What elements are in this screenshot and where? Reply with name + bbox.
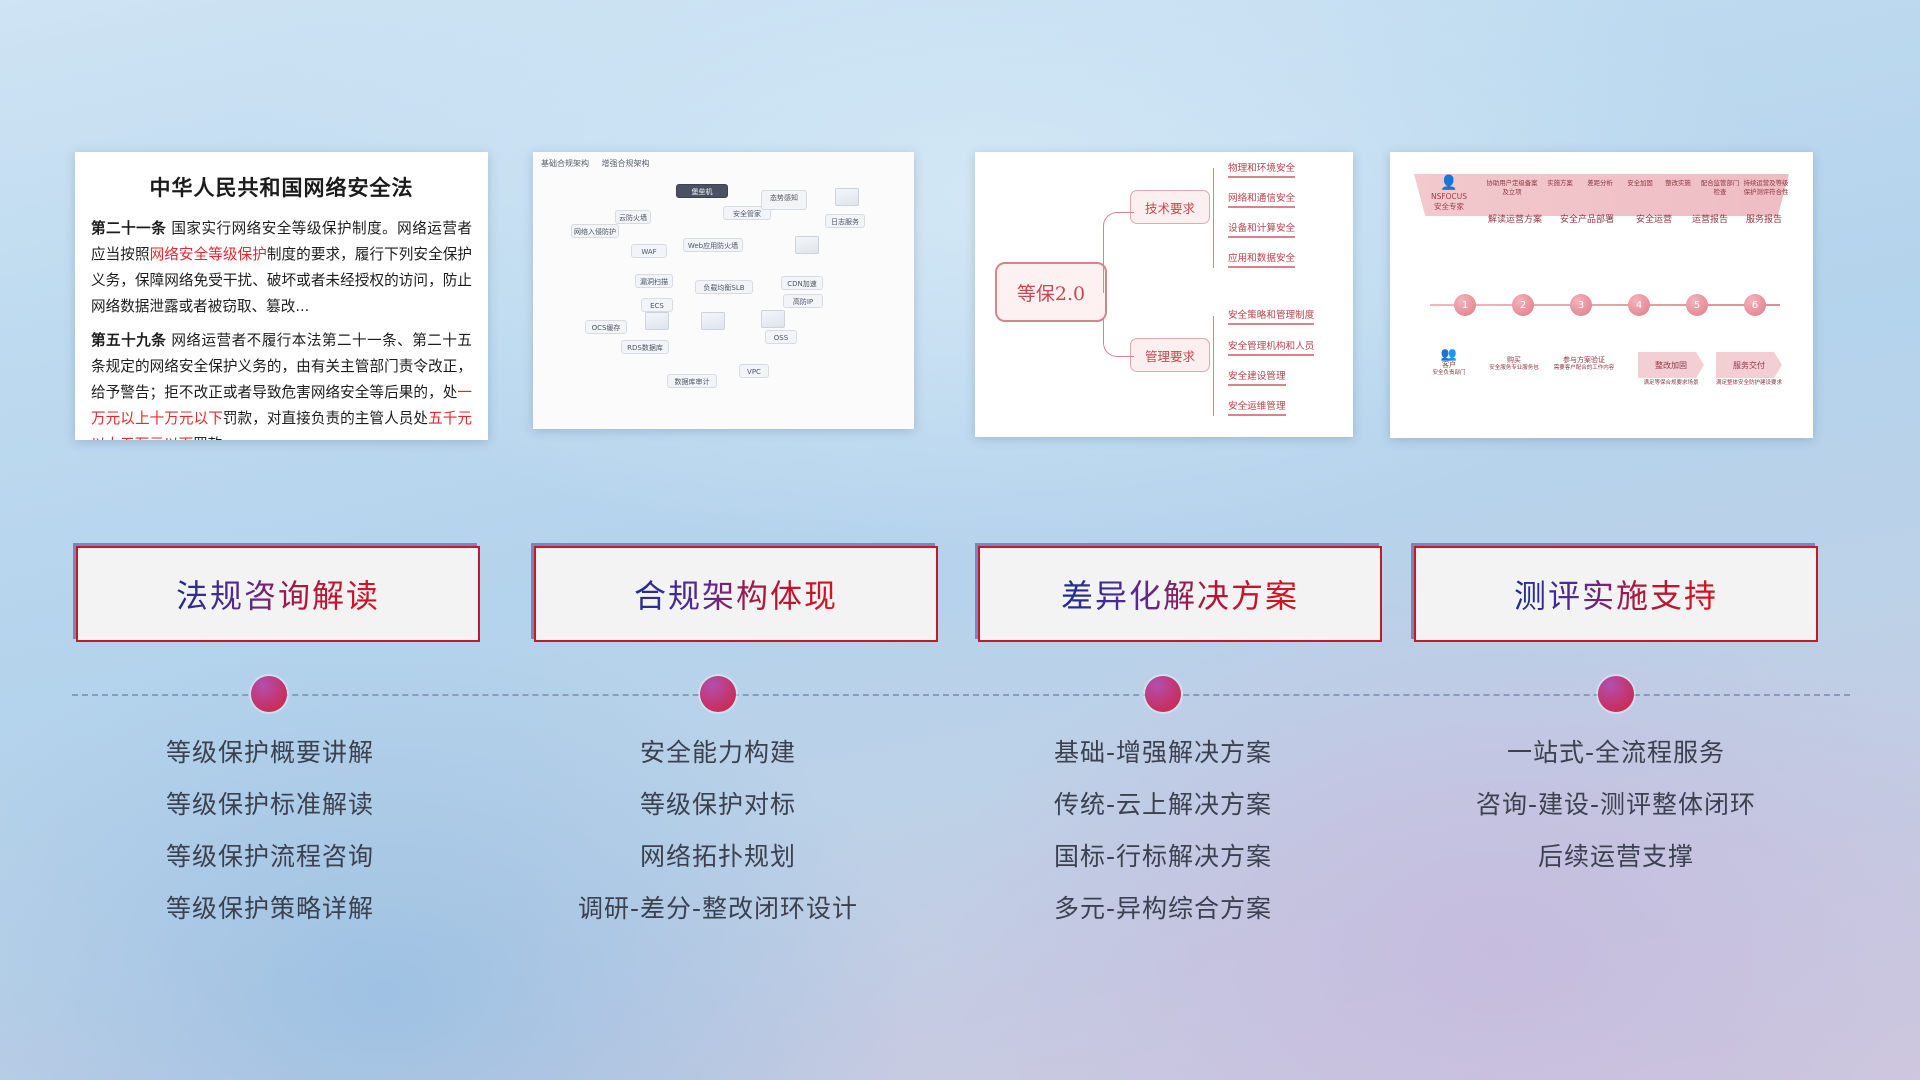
arch-server-icon-3 (645, 312, 669, 330)
nsfocus-banner-item-2: 差距分析 (1582, 179, 1618, 188)
nsfocus-stage-3: 3 (1570, 294, 1592, 316)
list-item: 咨询-建设-测评整体闭环 (1406, 792, 1826, 817)
law-article-59: 第五十九条 网络运营者不履行本法第二十一条、第二十五条规定的网络安全保护义务的，… (91, 328, 472, 440)
slide-canvas: 中华人民共和国网络安全法 第二十一条 国家实行网络安全等级保护制度。网络运营者应… (0, 0, 1920, 1080)
nsfocus-banner-item-1: 实施方案 (1542, 179, 1578, 188)
timeline-dashed-line (72, 694, 1850, 696)
nsfocus-banner-item-0: 协助用户定级备案及立项 (1486, 179, 1538, 196)
section-heading-label-2: 合规架构体现 (634, 571, 838, 617)
section-items-4: 一站式-全流程服务 咨询-建设-测评整体闭环 后续运营支撑 (1406, 740, 1826, 896)
arch-node-4: 网络入侵防护 (571, 224, 619, 238)
list-item: 国标-行标解决方案 (953, 844, 1373, 869)
list-item: 等级保护策略详解 (60, 896, 480, 921)
arch-node-6: Web应用防火墙 (683, 238, 743, 252)
nsfocus-logo-line2: 安全专家 (1420, 202, 1478, 212)
arch-node-16: 数据库审计 (667, 374, 717, 388)
timeline-node-4[interactable] (1598, 676, 1634, 712)
arch-tabs: 基础合规架构 增强合规架构 (541, 158, 660, 169)
list-item: 多元-异构综合方案 (953, 896, 1373, 921)
arch-tab-enhanced: 增强合规架构 (602, 159, 650, 168)
mindmap-leaf-tech-0: 物理和环境安全 (1228, 160, 1295, 178)
nsfocus-bottom-item-0-label: 购买 (1486, 356, 1542, 365)
law-card-title: 中华人民共和国网络安全法 (91, 172, 472, 202)
nsfocus-stage-4: 4 (1628, 294, 1650, 316)
card-cybersecurity-law: 中华人民共和国网络安全法 第二十一条 国家实行网络安全等级保护制度。网络运营者应… (75, 152, 488, 440)
mindmap-leaf-tech-3: 应用和数据安全 (1228, 250, 1295, 268)
nsfocus-arrow-1: 服务交付 (1716, 352, 1782, 378)
nsfocus-bottom-item-0: 购买 安全服务专业服务包 (1486, 356, 1542, 372)
person-icon: 👤 (1420, 176, 1478, 190)
list-item: 等级保护对标 (508, 792, 928, 817)
list-item: 传统-云上解决方案 (953, 792, 1373, 817)
customer-icon: 👥 (1418, 348, 1480, 361)
nsfocus-arrow-0: 整改加固 (1638, 352, 1704, 378)
law-article-59-label: 第五十九条 (91, 332, 166, 349)
mindmap-spine-management (1213, 316, 1226, 416)
mindmap-leaf-mgmt-3: 安全运维管理 (1228, 398, 1286, 416)
nsfocus-customer-block: 👥 客户 安全负责部门 (1418, 348, 1480, 377)
mindmap-connector-management (1103, 318, 1134, 357)
nsfocus-logo-line1: NSFOCUS (1420, 192, 1478, 202)
nsfocus-bottom-item-1-sub: 需要客户配合的工作内容 (1550, 365, 1618, 372)
arch-node-2: 态势感知 (761, 190, 807, 210)
mindmap-leaf-mgmt-1: 安全管理机构和人员 (1228, 338, 1314, 356)
arch-node-13: RDS数据库 (621, 340, 669, 354)
arch-node-9: 负载均衡SLB (695, 280, 753, 294)
nsfocus-arrow-0-sub: 满足等保合规要求场景 (1634, 380, 1708, 387)
arch-server-icon-4 (701, 312, 725, 330)
nsfocus-row-label-1: 安全产品部署 (1558, 212, 1616, 225)
section-heading-label-4: 测评实施支持 (1514, 571, 1718, 617)
mindmap-connector-technical (1103, 212, 1134, 293)
arch-node-14: OCS缓存 (585, 320, 627, 334)
nsfocus-customer-title: 客户 (1418, 361, 1480, 370)
section-items-3: 基础-增强解决方案 传统-云上解决方案 国标-行标解决方案 多元-异构综合方案 (953, 740, 1373, 948)
nsfocus-banner-item-6: 持续运营及等级保护测评符合性 (1742, 179, 1790, 196)
arch-node-11: 高防IP (783, 294, 823, 308)
nsfocus-customer-sub: 安全负责部门 (1418, 370, 1480, 377)
law-article-59-text-b: 罚款，对直接负责的主管人员处 (223, 410, 428, 427)
list-item: 调研-差分-整改闭环设计 (508, 896, 928, 921)
arch-node-10: CDN加速 (781, 276, 823, 290)
nsfocus-bottom-item-1-label: 参与方案验证 (1550, 356, 1618, 365)
section-heading-box-3[interactable]: 差异化解决方案 (978, 546, 1382, 642)
timeline-node-3[interactable] (1145, 676, 1181, 712)
mindmap-leaf-mgmt-2: 安全建设管理 (1228, 368, 1286, 386)
nsfocus-timeline-rail (1430, 304, 1780, 306)
mindmap-leaf-tech-1: 网络和通信安全 (1228, 190, 1295, 208)
list-item: 安全能力构建 (508, 740, 928, 765)
nsfocus-row-label-2: 安全运营 (1630, 212, 1678, 225)
arch-node-12: OSS (765, 330, 797, 344)
section-heading-box-1[interactable]: 法规咨询解读 (76, 546, 480, 642)
nsfocus-banner-item-5: 配合监管部门检查 (1698, 179, 1742, 196)
nsfocus-arrow-1-sub: 满足整体安全防护建设要求 (1712, 380, 1786, 387)
arch-server-icon-1 (795, 236, 819, 254)
nsfocus-stage-1: 1 (1454, 294, 1476, 316)
nsfocus-banner-item-3: 安全加固 (1622, 179, 1658, 188)
arch-node-3: 云防火墙 (615, 210, 651, 224)
list-item: 等级保护标准解读 (60, 792, 480, 817)
arch-server-icon-2 (835, 188, 859, 206)
section-items-2: 安全能力构建 等级保护对标 网络拓扑规划 调研-差分-整改闭环设计 (508, 740, 928, 948)
law-article-21-highlight: 网络安全等级保护 (150, 246, 267, 263)
law-article-21: 第二十一条 国家实行网络安全等级保护制度。网络运营者应当按照网络安全等级保护制度… (91, 216, 472, 320)
section-heading-box-2[interactable]: 合规架构体现 (534, 546, 938, 642)
law-card-body: 中华人民共和国网络安全法 第二十一条 国家实行网络安全等级保护制度。网络运营者应… (75, 152, 488, 440)
nsfocus-stage-5: 5 (1686, 294, 1708, 316)
nsfocus-stage-6: 6 (1744, 294, 1766, 316)
list-item: 等级保护概要讲解 (60, 740, 480, 765)
section-heading-label-1: 法规咨询解读 (176, 571, 380, 617)
list-item: 后续运营支撑 (1406, 844, 1826, 869)
timeline-node-1[interactable] (251, 676, 287, 712)
arch-server-icon-5 (761, 310, 785, 328)
nsfocus-bottom-item-1: 参与方案验证 需要客户配合的工作内容 (1550, 356, 1618, 372)
timeline-node-2[interactable] (700, 676, 736, 712)
mindmap-root-node: 等保2.0 (995, 262, 1107, 322)
list-item: 网络拓扑规划 (508, 844, 928, 869)
section-heading-box-4[interactable]: 测评实施支持 (1414, 546, 1818, 642)
card-compliance-architecture: 基础合规架构 增强合规架构 堡垒机 安全管家 态势感知 云防火墙 网络入侵防护 … (533, 152, 914, 429)
nsfocus-banner-item-4: 整改实施 (1660, 179, 1696, 188)
mindmap-spine-technical (1213, 168, 1226, 268)
law-article-59-text-c: 罚款。 (193, 436, 237, 440)
nsfocus-row-label-4: 服务报告 (1740, 212, 1788, 225)
section-items-1: 等级保护概要讲解 等级保护标准解读 等级保护流程咨询 等级保护策略详解 (60, 740, 480, 948)
section-heading-label-3: 差异化解决方案 (1061, 571, 1299, 617)
list-item: 一站式-全流程服务 (1406, 740, 1826, 765)
nsfocus-row-label-3: 运营报告 (1686, 212, 1734, 225)
arch-node-7: 漏洞扫描 (635, 274, 673, 288)
mindmap-leaf-tech-2: 设备和计算安全 (1228, 220, 1295, 238)
mindmap-branch-management: 管理要求 (1130, 338, 1210, 372)
nsfocus-row-label-0: 解读运营方案 (1486, 212, 1544, 225)
arch-node-8: ECS (641, 298, 673, 312)
arch-node-5: WAF (631, 244, 667, 258)
nsfocus-logo: 👤 NSFOCUS 安全专家 (1420, 176, 1478, 216)
card-dengbao-mindmap: 等保2.0 技术要求 管理要求 物理和环境安全 网络和通信安全 设备和计算安全 … (975, 152, 1353, 437)
arch-node-17: 日志服务 (825, 214, 865, 228)
arch-node-0: 堡垒机 (676, 184, 728, 198)
list-item: 等级保护流程咨询 (60, 844, 480, 869)
arch-node-15: VPC (739, 364, 769, 378)
arch-tab-basic: 基础合规架构 (541, 159, 589, 168)
law-article-21-label: 第二十一条 (91, 220, 166, 237)
card-nsfocus-process: 👤 NSFOCUS 安全专家 协助用户定级备案及立项 实施方案 差距分析 安全加… (1390, 152, 1813, 438)
list-item: 基础-增强解决方案 (953, 740, 1373, 765)
mindmap-branch-technical: 技术要求 (1130, 190, 1210, 224)
nsfocus-stage-2: 2 (1512, 294, 1534, 316)
nsfocus-bottom-item-0-sub: 安全服务专业服务包 (1486, 365, 1542, 372)
mindmap-leaf-mgmt-0: 安全策略和管理制度 (1228, 307, 1314, 325)
